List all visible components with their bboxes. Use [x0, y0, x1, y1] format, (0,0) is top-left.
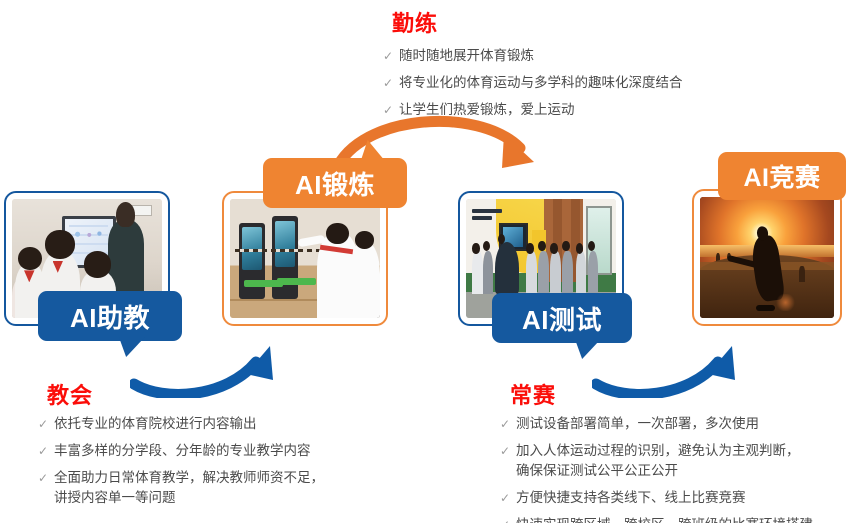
- check-icon: ✓: [500, 488, 516, 508]
- list-item: ✓ 依托专业的体育院校进行内容输出: [38, 414, 358, 434]
- badge-ai-contest[interactable]: AI竞赛: [718, 152, 846, 200]
- list-item: ✓ 快速实现跨区域、跨校区、跨班级的比赛环境搭建: [500, 515, 852, 523]
- list-item-text: 随时随地展开体育锻炼: [399, 48, 534, 63]
- check-icon: ✓: [38, 414, 54, 434]
- photo-gym-ai-kiosk: [222, 191, 388, 326]
- badge-tail-icon: [357, 140, 384, 159]
- list-item-text: 将专业化的体育运动与多学科的趣味化深度结合: [399, 75, 683, 90]
- check-icon: ✓: [38, 441, 54, 461]
- infographic-canvas: AI助教 AI锻炼 AI测试 AI竞赛 勤练 ✓ 随时随地展开体育锻炼 ✓ 将专…: [0, 0, 858, 523]
- list-item-text: 快速实现跨区域、跨校区、跨班级的比赛环境搭建: [516, 517, 813, 523]
- list-item-text: 全面助力日常体育教学，解决教师师资不足，: [54, 470, 324, 485]
- check-icon: ✓: [500, 441, 516, 461]
- list-item: ✓ 加入人体运动过程的识别，避免认为主观判断， 确保保证测试公平公正公开: [500, 441, 852, 481]
- list-item-text: 让学生们热爱锻炼，爱上运动: [399, 102, 575, 117]
- badge-ai-testing[interactable]: AI测试: [492, 293, 632, 343]
- list-item: ✓ 丰富多样的分学段、分年龄的专业教学内容: [38, 441, 358, 461]
- badge-ai-assistant[interactable]: AI助教: [38, 291, 182, 341]
- check-icon: ✓: [500, 414, 516, 434]
- photo-gym-ai-kiosk-image: [230, 199, 380, 318]
- list-item-text-cont: 确保保证测试公平公正公开: [516, 461, 852, 481]
- section-bullets-train: ✓ 随时随地展开体育锻炼 ✓ 将专业化的体育运动与多学科的趣味化深度结合 ✓ 让…: [383, 46, 723, 127]
- list-item: ✓ 让学生们热爱锻炼，爱上运动: [383, 100, 723, 120]
- badge-ai-training[interactable]: AI锻炼: [263, 158, 407, 208]
- list-item-text: 丰富多样的分学段、分年龄的专业教学内容: [54, 443, 311, 458]
- list-item: ✓ 全面助力日常体育教学，解决教师师资不足， 讲授内容单一等问题: [38, 468, 358, 508]
- list-item-text: 测试设备部署简单，一次部署，多次使用: [516, 416, 759, 431]
- section-heading-train: 勤练: [392, 6, 438, 38]
- section-bullets-compete: ✓ 测试设备部署简单，一次部署，多次使用 ✓ 加入人体运动过程的识别，避免认为主…: [500, 414, 852, 523]
- badge-ai-contest-label: AI竞赛: [743, 158, 820, 194]
- list-item-text: 依托专业的体育院校进行内容输出: [54, 416, 257, 431]
- list-item-text-cont: 讲授内容单一等问题: [54, 488, 358, 508]
- photo-skate-sunset: [692, 189, 842, 326]
- check-icon: ✓: [38, 468, 54, 488]
- section-heading-compete: 常赛: [510, 378, 556, 410]
- list-item: ✓ 随时随地展开体育锻炼: [383, 46, 723, 66]
- list-item: ✓ 将专业化的体育运动与多学科的趣味化深度结合: [383, 73, 723, 93]
- check-icon: ✓: [383, 46, 399, 66]
- section-heading-teach: 教会: [47, 378, 93, 410]
- check-icon: ✓: [383, 73, 399, 93]
- list-item: ✓ 方便快捷支持各类线下、线上比赛竞赛: [500, 488, 852, 508]
- list-item-text: 加入人体运动过程的识别，避免认为主观判断，: [516, 443, 800, 458]
- badge-tail-icon: [113, 337, 145, 357]
- list-item-text: 方便快捷支持各类线下、线上比赛竞赛: [516, 490, 746, 505]
- badge-ai-testing-label: AI测试: [522, 300, 602, 337]
- list-item: ✓ 测试设备部署简单，一次部署，多次使用: [500, 414, 852, 434]
- badge-ai-assistant-label: AI助教: [70, 298, 150, 335]
- badge-ai-training-label: AI锻炼: [295, 165, 375, 202]
- photo-skate-sunset-image: [700, 197, 834, 318]
- section-bullets-teach: ✓ 依托专业的体育院校进行内容输出 ✓ 丰富多样的分学段、分年龄的专业教学内容 …: [38, 414, 358, 515]
- badge-tail-icon: [569, 339, 601, 359]
- check-icon: ✓: [383, 100, 399, 120]
- check-icon: ✓: [500, 515, 516, 523]
